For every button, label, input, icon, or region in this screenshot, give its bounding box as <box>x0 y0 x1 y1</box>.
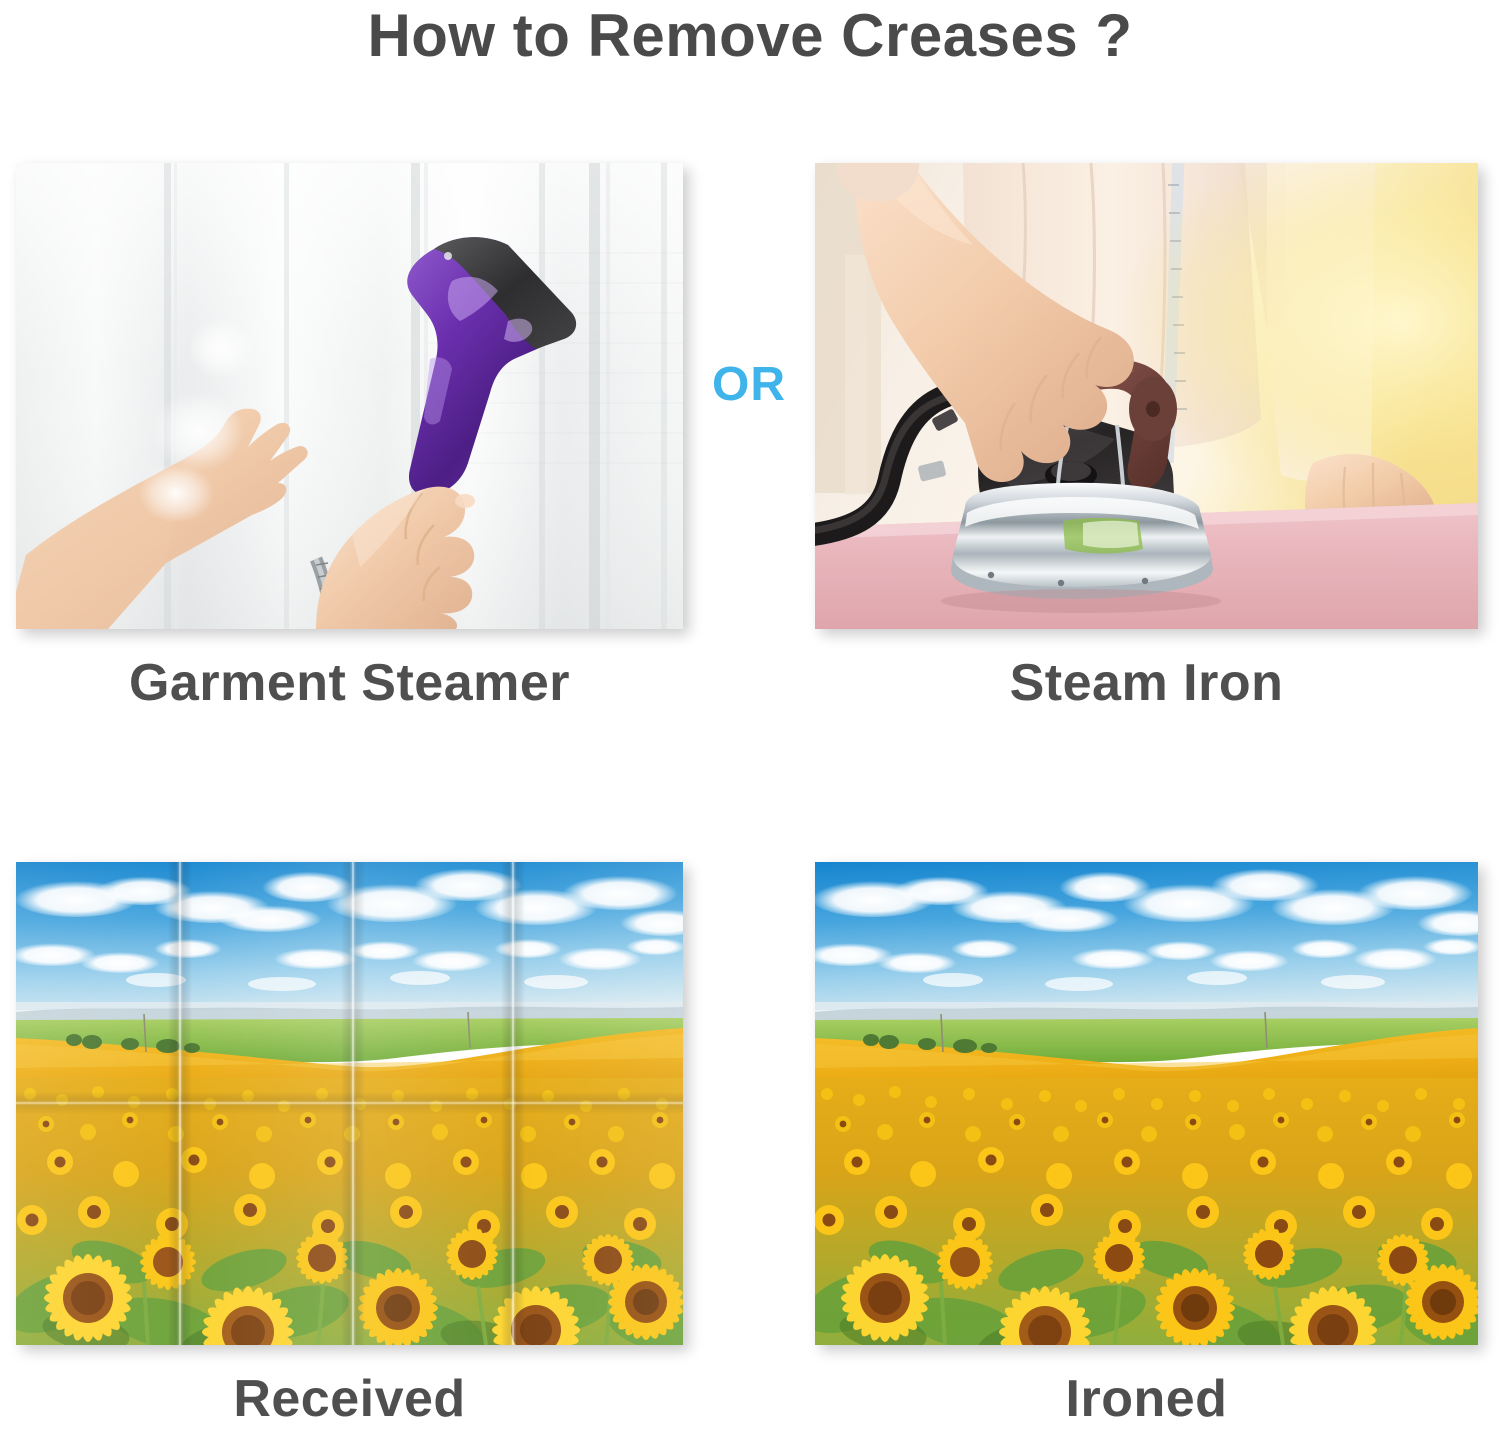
sunflower-scene-creased <box>16 862 683 1345</box>
steam-iron-photo <box>815 163 1478 629</box>
garment-steamer-illustration <box>16 163 683 629</box>
sunflower-field-creased-photo <box>16 862 683 1345</box>
sunflower-scene-smooth <box>815 862 1478 1345</box>
caption-garment-steamer: Garment Steamer <box>16 652 683 714</box>
infographic-page: How to Remove Creases ? <box>0 0 1500 1438</box>
page-title: How to Remove Creases ? <box>0 0 1500 72</box>
or-connector-label: OR <box>683 355 815 415</box>
iron-soleplate <box>941 483 1221 613</box>
sunflower-field-smooth-photo <box>815 862 1478 1345</box>
caption-steam-iron: Steam Iron <box>815 652 1478 714</box>
caption-received: Received <box>16 1368 683 1430</box>
garment-steamer-photo <box>16 163 683 629</box>
steam-iron-illustration <box>815 163 1478 629</box>
caption-ironed: Ironed <box>815 1368 1478 1430</box>
